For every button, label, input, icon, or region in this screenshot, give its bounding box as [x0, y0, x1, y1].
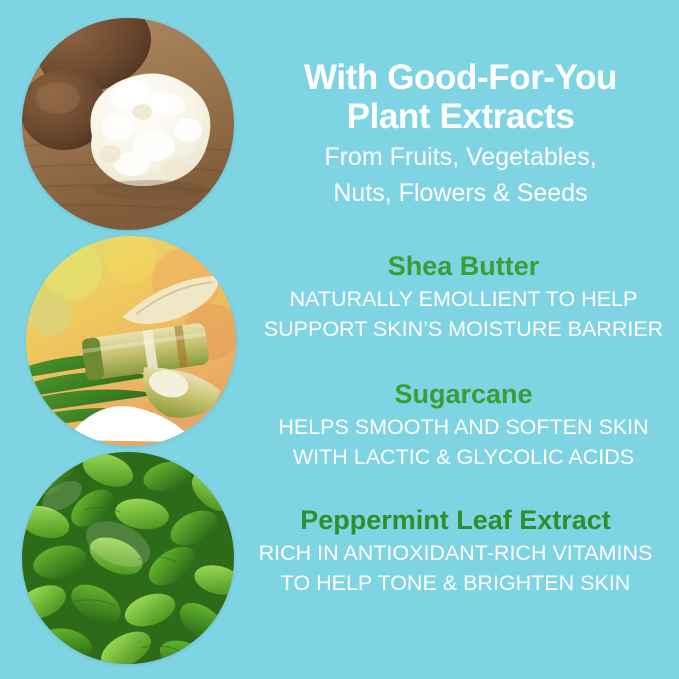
headline-block: With Good-For-You Plant Extracts From Fr…	[256, 58, 665, 208]
ingredient-desc-line-1: NATURALLY EMOLLIENT TO HELP	[252, 286, 675, 312]
infographic-root: With Good-For-You Plant Extracts From Fr…	[0, 0, 679, 679]
ingredient-desc-line-2: WITH LACTIC & GLYCOLIC ACIDS	[252, 444, 675, 470]
headline-line-1: With Good-For-You	[256, 58, 665, 97]
ingredient-sugarcane: Sugarcane HELPS SMOOTH AND SOFTEN SKIN W…	[252, 380, 675, 471]
peppermint-photo	[22, 452, 234, 664]
sugarcane-photo	[26, 236, 236, 446]
headline-line-2: Plant Extracts	[256, 97, 665, 136]
subhead-line-1: From Fruits, Vegetables,	[256, 142, 665, 172]
ingredient-desc-line-1: HELPS SMOOTH AND SOFTEN SKIN	[252, 414, 675, 440]
photo-column	[0, 0, 256, 679]
text-column: With Good-For-You Plant Extracts From Fr…	[256, 0, 679, 679]
subhead-line-2: Nuts, Flowers & Seeds	[256, 178, 665, 208]
ingredient-name: Sugarcane	[252, 380, 675, 410]
shea-butter-photo	[22, 18, 234, 230]
ingredient-desc-line-2: TO HELP TONE & BRIGHTEN SKIN	[244, 570, 667, 596]
ingredient-shea-butter: Shea Butter NATURALLY EMOLLIENT TO HELP …	[252, 252, 675, 343]
ingredient-name: Shea Butter	[252, 252, 675, 282]
ingredient-name: Peppermint Leaf Extract	[244, 506, 667, 536]
ingredient-desc-line-1: RICH IN ANTIOXIDANT-RICH VITAMINS	[244, 540, 667, 566]
ingredient-peppermint-leaf-extract: Peppermint Leaf Extract RICH IN ANTIOXID…	[244, 506, 667, 597]
ingredient-desc-line-2: SUPPORT SKIN’S MOISTURE BARRIER	[252, 316, 675, 342]
